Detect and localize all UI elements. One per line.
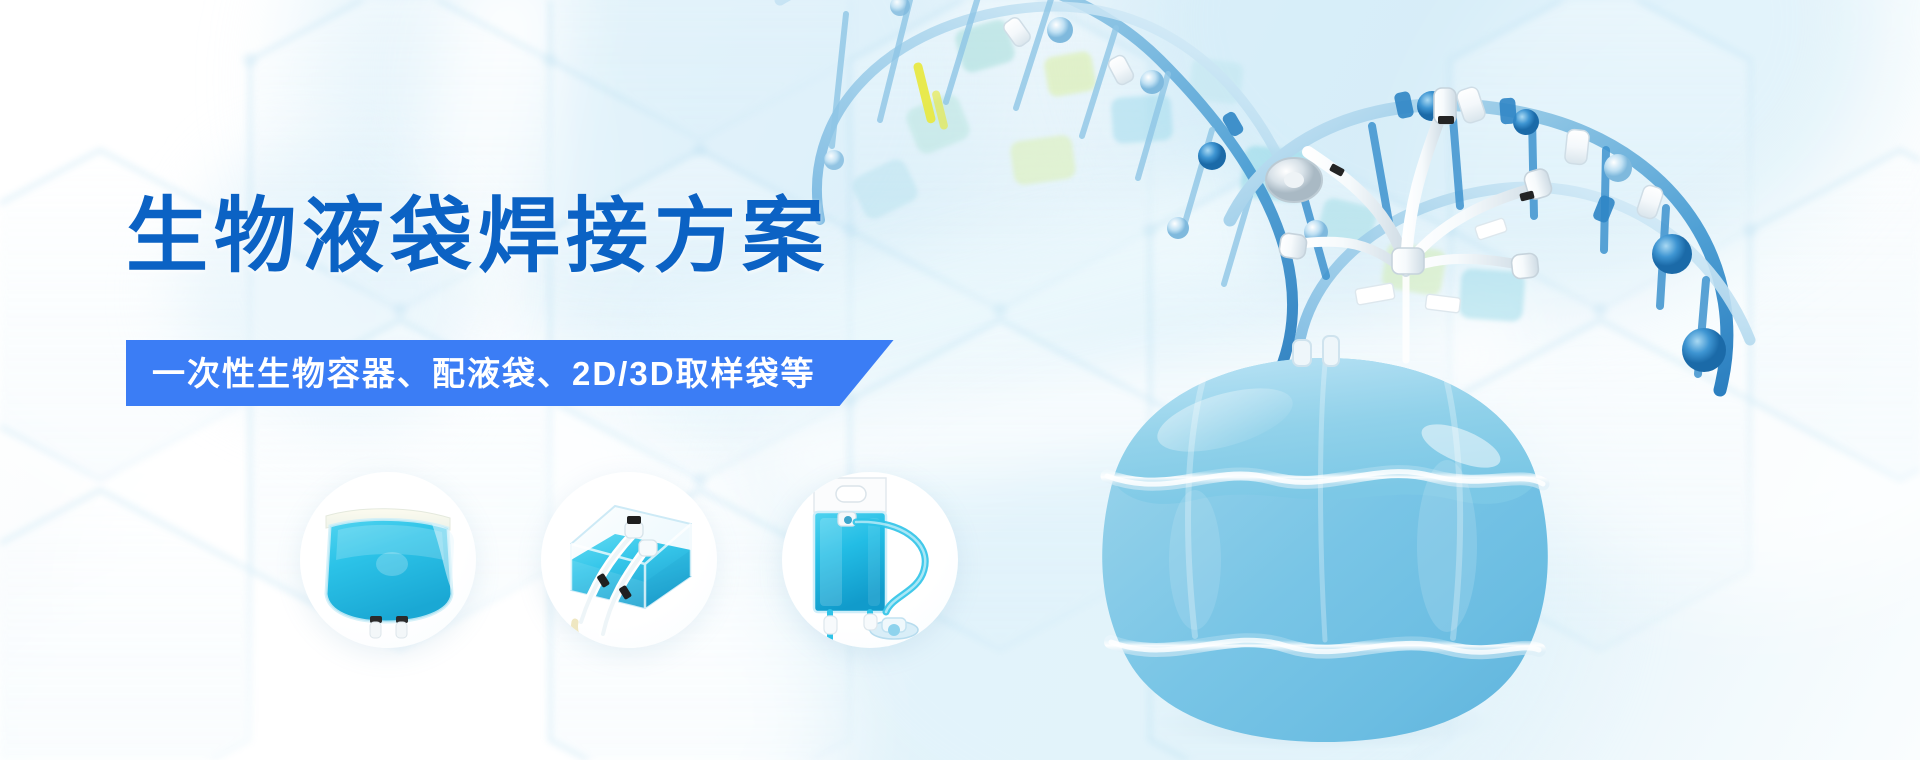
light-streak: [139, 109, 521, 471]
product-circle-2d-bag[interactable]: [300, 472, 476, 648]
bag-3d-icon: [541, 472, 717, 648]
dna-double-helix-icon: [760, 0, 1820, 530]
product-circle-sampling-bag[interactable]: [782, 472, 958, 648]
product-circle-3d-bag[interactable]: [541, 472, 717, 648]
page-title: 生物液袋焊接方案: [126, 196, 830, 278]
hero-banner: 生物液袋焊接方案 一次性生物容器、配液袋、2D/3D取样袋等: [0, 0, 1920, 760]
bag-2d-icon: [300, 472, 476, 648]
tubing-manifold-icon: [1230, 60, 1590, 390]
subtitle-banner: 一次性生物容器、配液袋、2D/3D取样袋等: [126, 340, 894, 406]
large-bioprocess-bag-icon: [1075, 350, 1575, 750]
bag-sampling-icon: [782, 472, 958, 648]
background-wash: [1420, 0, 1920, 600]
subtitle-text: 一次性生物容器、配液袋、2D/3D取样袋等: [152, 357, 816, 390]
background-wash: [1120, 0, 1880, 300]
product-circle-list: [300, 472, 1020, 682]
